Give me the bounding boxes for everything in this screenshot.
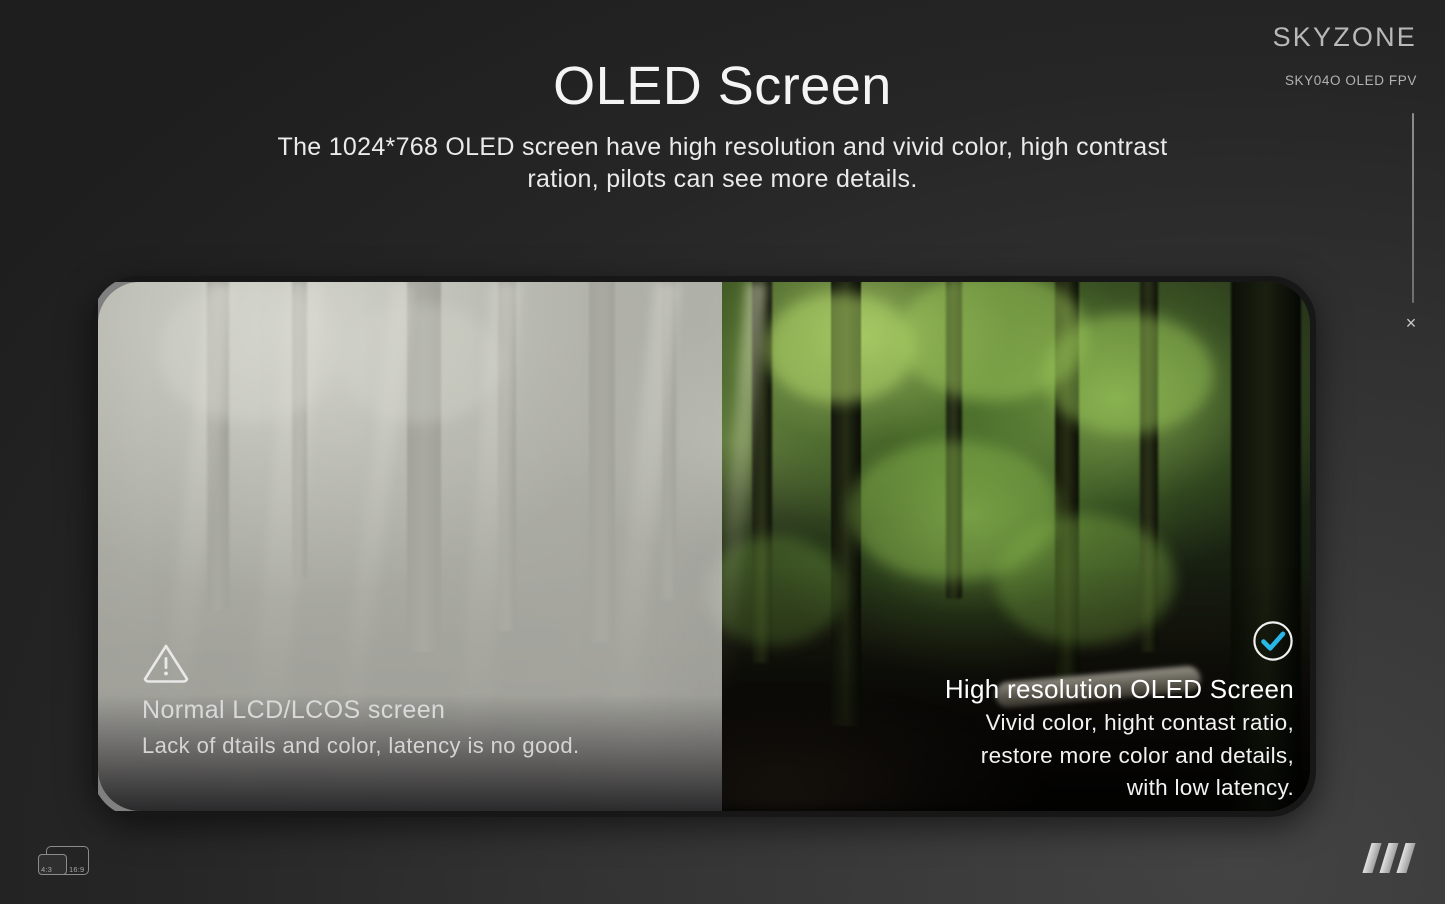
lcd-description: Lack of dtails and color, latency is no … bbox=[142, 732, 579, 760]
oled-line-2: restore more color and details, bbox=[945, 740, 1294, 773]
oled-title: High resolution OLED Screen bbox=[945, 673, 1294, 707]
brand-name: SKYZONE bbox=[1273, 24, 1417, 51]
check-circle-icon bbox=[945, 620, 1294, 667]
close-icon[interactable]: × bbox=[1398, 310, 1424, 336]
aspect-16-9-label: 16:9 bbox=[69, 865, 84, 874]
device-bezel: Normal LCD/LCOS screen Lack of dtails an… bbox=[92, 276, 1316, 817]
oled-line-1: Vivid color, hight contast ratio, bbox=[945, 707, 1294, 740]
slash-1 bbox=[1362, 843, 1381, 873]
oled-caption-block: High resolution OLED Screen Vivid color,… bbox=[945, 620, 1294, 805]
lcd-title: Normal LCD/LCOS screen bbox=[142, 695, 579, 726]
slash-2 bbox=[1379, 843, 1398, 873]
lcd-caption-block: Normal LCD/LCOS screen Lack of dtails an… bbox=[142, 642, 579, 759]
warning-triangle-icon bbox=[142, 642, 579, 689]
vertical-scrollbar[interactable] bbox=[1412, 113, 1414, 303]
screen-display: Normal LCD/LCOS screen Lack of dtails an… bbox=[98, 282, 1310, 811]
oled-screen-page: SKYZONE SKY04O OLED FPV × OLED Screen Th… bbox=[0, 0, 1445, 904]
aspect-4-3-label: 4:3 bbox=[41, 865, 52, 874]
page-subtitle: The 1024*768 OLED screen have high resol… bbox=[253, 131, 1193, 195]
page-title: OLED Screen bbox=[0, 56, 1445, 116]
three-slashes-icon bbox=[1367, 843, 1411, 873]
oled-line-3: with low latency. bbox=[945, 772, 1294, 805]
slash-3 bbox=[1396, 843, 1415, 873]
aspect-ratio-icon[interactable]: 4:3 16:9 bbox=[38, 846, 88, 876]
